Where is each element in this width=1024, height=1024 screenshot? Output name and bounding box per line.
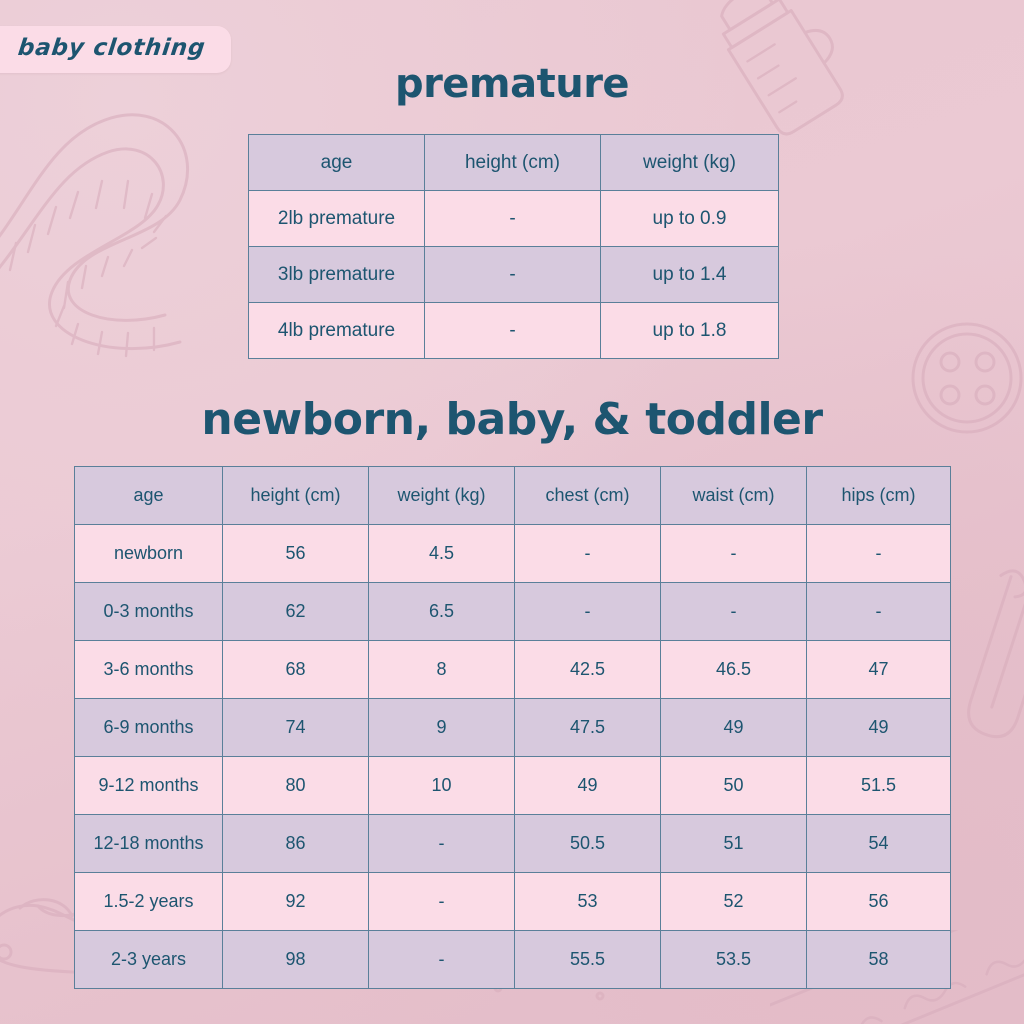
cell-weight: 10	[369, 757, 515, 815]
table-row: 3lb premature - up to 1.4	[249, 247, 779, 303]
cell-waist: 49	[661, 699, 807, 757]
badge-label: baby clothing	[17, 37, 207, 60]
table-row: 6-9 months 74 9 47.5 49 49	[75, 699, 951, 757]
cell-weight: 4.5	[369, 525, 515, 583]
table-header-row: age height (cm) weight (kg)	[249, 135, 779, 191]
cell-weight: -	[369, 931, 515, 989]
cell-age: 12-18 months	[75, 815, 223, 873]
cell-hips: 49	[807, 699, 951, 757]
cell-waist: 53.5	[661, 931, 807, 989]
premature-section-title: premature	[0, 64, 1024, 104]
cell-height: 74	[223, 699, 369, 757]
measuring-tape-doodle	[0, 80, 250, 380]
cell-age: 2-3 years	[75, 931, 223, 989]
column-header-waist: waist (cm)	[661, 467, 807, 525]
cell-chest: 55.5	[515, 931, 661, 989]
cell-weight: up to 0.9	[601, 191, 779, 247]
safety-pin-doodle	[952, 560, 1024, 780]
cell-chest: -	[515, 583, 661, 641]
cell-height: 86	[223, 815, 369, 873]
cell-age: 6-9 months	[75, 699, 223, 757]
cell-weight: -	[369, 815, 515, 873]
cell-hips: 47	[807, 641, 951, 699]
table-row: 12-18 months 86 - 50.5 51 54	[75, 815, 951, 873]
cell-chest: -	[515, 525, 661, 583]
table-row: 1.5-2 years 92 - 53 52 56	[75, 873, 951, 931]
table-row: 3-6 months 68 8 42.5 46.5 47	[75, 641, 951, 699]
cell-age: 3-6 months	[75, 641, 223, 699]
cell-age: newborn	[75, 525, 223, 583]
cell-age: 3lb premature	[249, 247, 425, 303]
column-header-height: height (cm)	[425, 135, 601, 191]
premature-size-table: age height (cm) weight (kg) 2lb prematur…	[248, 134, 779, 359]
cell-waist: 50	[661, 757, 807, 815]
cell-waist: -	[661, 525, 807, 583]
table-row: newborn 56 4.5 - - -	[75, 525, 951, 583]
cell-weight: 9	[369, 699, 515, 757]
column-header-chest: chest (cm)	[515, 467, 661, 525]
table-row: 9-12 months 80 10 49 50 51.5	[75, 757, 951, 815]
cell-weight: 8	[369, 641, 515, 699]
cell-age: 4lb premature	[249, 303, 425, 359]
cell-weight: 6.5	[369, 583, 515, 641]
table-row: 2lb premature - up to 0.9	[249, 191, 779, 247]
cell-waist: -	[661, 583, 807, 641]
cell-hips: 51.5	[807, 757, 951, 815]
cell-waist: 52	[661, 873, 807, 931]
cell-age: 1.5-2 years	[75, 873, 223, 931]
cell-height: 80	[223, 757, 369, 815]
cell-height: 92	[223, 873, 369, 931]
cell-age: 9-12 months	[75, 757, 223, 815]
cell-age: 0-3 months	[75, 583, 223, 641]
column-header-hips: hips (cm)	[807, 467, 951, 525]
table-row: 2-3 years 98 - 55.5 53.5 58	[75, 931, 951, 989]
cell-chest: 49	[515, 757, 661, 815]
newborn-size-table: age height (cm) weight (kg) chest (cm) w…	[74, 466, 951, 989]
cell-age: 2lb premature	[249, 191, 425, 247]
table-row: 4lb premature - up to 1.8	[249, 303, 779, 359]
cell-hips: 56	[807, 873, 951, 931]
column-header-age: age	[75, 467, 223, 525]
cell-height: 56	[223, 525, 369, 583]
cell-hips: -	[807, 525, 951, 583]
cell-weight: up to 1.8	[601, 303, 779, 359]
cell-hips: 54	[807, 815, 951, 873]
cell-height: -	[425, 303, 601, 359]
table-row: 0-3 months 62 6.5 - - -	[75, 583, 951, 641]
cell-waist: 51	[661, 815, 807, 873]
cell-hips: -	[807, 583, 951, 641]
column-header-weight: weight (kg)	[369, 467, 515, 525]
cell-weight: up to 1.4	[601, 247, 779, 303]
cell-chest: 42.5	[515, 641, 661, 699]
cell-chest: 50.5	[515, 815, 661, 873]
cell-height: 98	[223, 931, 369, 989]
cell-chest: 53	[515, 873, 661, 931]
cell-height: -	[425, 191, 601, 247]
cell-weight: -	[369, 873, 515, 931]
cell-waist: 46.5	[661, 641, 807, 699]
column-header-height: height (cm)	[223, 467, 369, 525]
size-chart-page: baby clothing premature age height (cm) …	[0, 0, 1024, 1024]
cell-height: 68	[223, 641, 369, 699]
cell-height: -	[425, 247, 601, 303]
cell-chest: 47.5	[515, 699, 661, 757]
column-header-age: age	[249, 135, 425, 191]
cell-hips: 58	[807, 931, 951, 989]
newborn-section-title: newborn, baby, & toddler	[0, 398, 1024, 442]
table-header-row: age height (cm) weight (kg) chest (cm) w…	[75, 467, 951, 525]
column-header-weight: weight (kg)	[601, 135, 779, 191]
cell-height: 62	[223, 583, 369, 641]
